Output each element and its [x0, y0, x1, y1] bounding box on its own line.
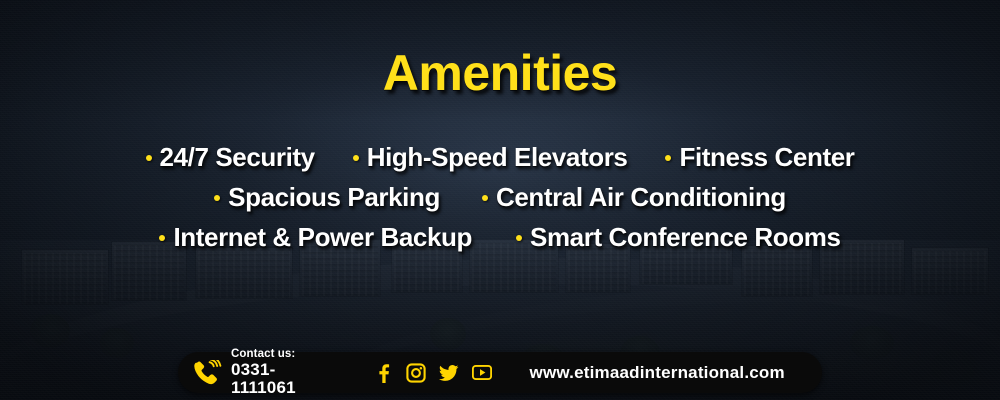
bullet-icon: [665, 155, 671, 161]
amenity-item: 24/7 Security: [146, 142, 315, 173]
contact-bar: Contact us: 0331-1111061: [178, 352, 822, 393]
amenity-item: Fitness Center: [665, 142, 854, 173]
contact-text: Contact us: 0331-1111061: [231, 348, 335, 396]
amenities-row: 24/7 Security High-Speed Elevators Fitne…: [0, 142, 1000, 173]
instagram-icon[interactable]: [406, 363, 426, 383]
amenity-item: Spacious Parking: [214, 182, 440, 213]
amenity-label: Fitness Center: [679, 142, 854, 173]
amenities-list: 24/7 Security High-Speed Elevators Fitne…: [0, 142, 1000, 262]
bullet-icon: [159, 235, 165, 241]
youtube-icon[interactable]: [472, 363, 492, 383]
social-links: [373, 363, 492, 383]
bullet-icon: [353, 155, 359, 161]
bullet-icon: [516, 235, 522, 241]
amenity-label: 24/7 Security: [160, 142, 315, 173]
contact-label: Contact us:: [231, 348, 335, 360]
amenity-label: Spacious Parking: [228, 182, 440, 213]
amenity-item: Central Air Conditioning: [482, 182, 786, 213]
amenity-label: Smart Conference Rooms: [530, 222, 841, 253]
website-url[interactable]: www.etimaadinternational.com: [492, 363, 822, 383]
facebook-icon[interactable]: [373, 363, 393, 383]
amenities-poster: Amenities 24/7 Security High-Speed Eleva…: [0, 0, 1000, 400]
amenity-item: Smart Conference Rooms: [516, 222, 841, 253]
contact-phone-number[interactable]: 0331-1111061: [231, 361, 335, 397]
bullet-icon: [482, 195, 488, 201]
bullet-icon: [214, 195, 220, 201]
amenity-label: High-Speed Elevators: [367, 142, 628, 173]
amenity-item: Internet & Power Backup: [159, 222, 472, 253]
twitter-icon[interactable]: [439, 363, 459, 383]
page-title: Amenities: [0, 44, 1000, 102]
phone-call-icon: [192, 360, 222, 386]
amenity-label: Central Air Conditioning: [496, 182, 786, 213]
bullet-icon: [146, 155, 152, 161]
amenity-label: Internet & Power Backup: [173, 222, 472, 253]
amenity-item: High-Speed Elevators: [353, 142, 628, 173]
amenities-row: Internet & Power Backup Smart Conference…: [0, 222, 1000, 253]
amenities-row: Spacious Parking Central Air Conditionin…: [0, 182, 1000, 213]
